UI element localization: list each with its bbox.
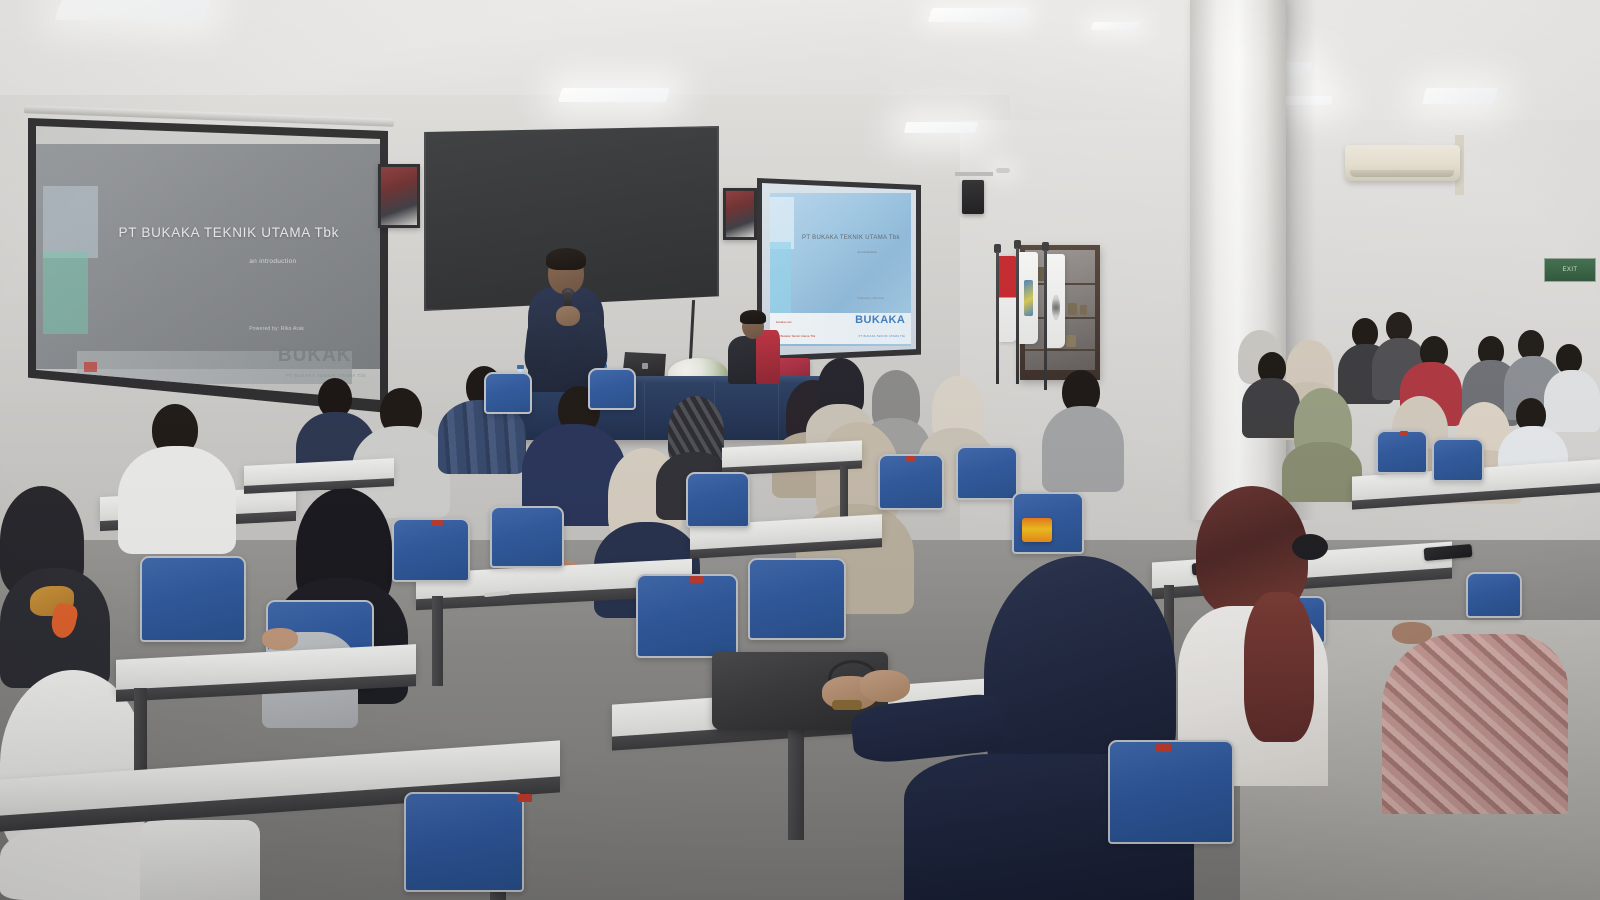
slide2-title: PT BUKAKA TEKNIK UTAMA Tbk <box>802 235 900 241</box>
seated-host-hair <box>740 310 766 324</box>
chair[interactable] <box>588 368 636 410</box>
ceiling-light-panel <box>54 0 211 20</box>
attendee-hand <box>860 670 910 702</box>
attendee-hair-strand <box>1244 592 1314 742</box>
white-bag <box>140 820 260 900</box>
attendee-body <box>1042 406 1124 492</box>
chair[interactable] <box>140 556 246 642</box>
desk-leg <box>432 596 443 686</box>
attendee-body <box>1282 442 1362 502</box>
attendee-hand <box>1392 622 1432 644</box>
indonesia-flag <box>999 256 1017 342</box>
chair[interactable] <box>956 446 1018 500</box>
bukaka-logo-text-2: BUKAKA <box>855 314 905 326</box>
wristwatch <box>832 700 862 710</box>
slide2-contact-2: PT Bukaka Teknik Utama Tbk <box>776 334 815 338</box>
presenter-hair <box>546 248 586 270</box>
slide-subtitle: an introduction <box>249 258 296 265</box>
attendee-body <box>118 446 236 554</box>
trophy <box>1066 335 1076 347</box>
ceiling-light-panel <box>904 122 979 133</box>
organization-flag <box>1047 254 1065 348</box>
attendee-floral-blouse <box>1382 634 1568 814</box>
trophy <box>1080 305 1087 315</box>
chair[interactable] <box>484 372 532 414</box>
chair[interactable] <box>636 574 738 658</box>
structural-column <box>1190 0 1286 520</box>
chair-accent-dot <box>1156 744 1171 752</box>
orange-yellow-container <box>1022 518 1052 542</box>
framed-portrait-left <box>378 164 420 228</box>
desk-leg <box>788 730 804 840</box>
chair[interactable] <box>392 518 470 582</box>
chair[interactable] <box>490 506 564 568</box>
ceiling-light-panel <box>928 8 1029 22</box>
chair[interactable] <box>748 558 846 640</box>
framed-portrait-right <box>723 188 757 240</box>
seated-host-accent <box>756 330 780 384</box>
wall-speaker <box>962 180 984 214</box>
chair[interactable] <box>1108 740 1234 844</box>
institution-flag <box>1019 252 1038 344</box>
chair[interactable] <box>404 792 524 892</box>
chair-accent-dot <box>1400 431 1408 436</box>
slide-title: PT BUKAKA TEKNIK UTAMA Tbk <box>119 225 340 240</box>
presenter-hands <box>556 306 580 326</box>
exit-sign: EXIT <box>1544 258 1596 282</box>
slide2-subtitle: an introduction <box>857 250 877 254</box>
chair[interactable] <box>686 472 750 528</box>
ceiling-light-panel <box>1091 22 1141 30</box>
ceiling-light-panel <box>1422 88 1498 104</box>
attendee-body <box>1242 378 1300 438</box>
main-projection-screen: PT BUKAKA TEKNIK UTAMA Tbk an introducti… <box>36 126 380 400</box>
slide2-contact-1: bukaka.com <box>776 320 792 324</box>
ac-vent <box>1350 170 1454 177</box>
speaker-mount <box>955 172 993 176</box>
chair-accent-dot <box>690 576 703 583</box>
attendee-body <box>1544 370 1600 432</box>
chair-accent-dot <box>432 520 443 526</box>
attendee-hair-tie <box>1292 534 1328 560</box>
trophy <box>1068 303 1077 315</box>
chair[interactable] <box>1466 572 1522 618</box>
attendee-hand <box>262 628 298 650</box>
chair[interactable] <box>878 454 944 510</box>
slide2-credit: Powered by: Riko Arak <box>857 297 883 300</box>
ceiling-light-panel <box>558 88 670 102</box>
secondary-projection-screen: PT BUKAKA TEKNIK UTAMA Tbk an introducti… <box>762 183 916 356</box>
smoke-detector-icon <box>996 168 1010 173</box>
bukaka-logo-subtext-2: PT BUKAKA TEKNIK UTAMA Tbk <box>859 335 906 338</box>
seminar-room-photo: EXIT PT BUKAKA TEKNIK UTAMA Tbk an intro… <box>0 0 1600 900</box>
chair[interactable] <box>1376 430 1428 474</box>
bukaka-logo-subtext: PT BUKAKA TEKNIK UTAMA Tbk <box>286 373 366 378</box>
chair-accent-dot <box>518 794 532 802</box>
chair-accent-dot <box>906 456 915 461</box>
slide-credit: Powered by: Riko Arak <box>249 326 304 332</box>
bukaka-logo-text: BUKAKA <box>278 345 366 367</box>
chair[interactable] <box>1432 438 1484 482</box>
exit-sign-label: EXIT <box>1563 267 1578 273</box>
